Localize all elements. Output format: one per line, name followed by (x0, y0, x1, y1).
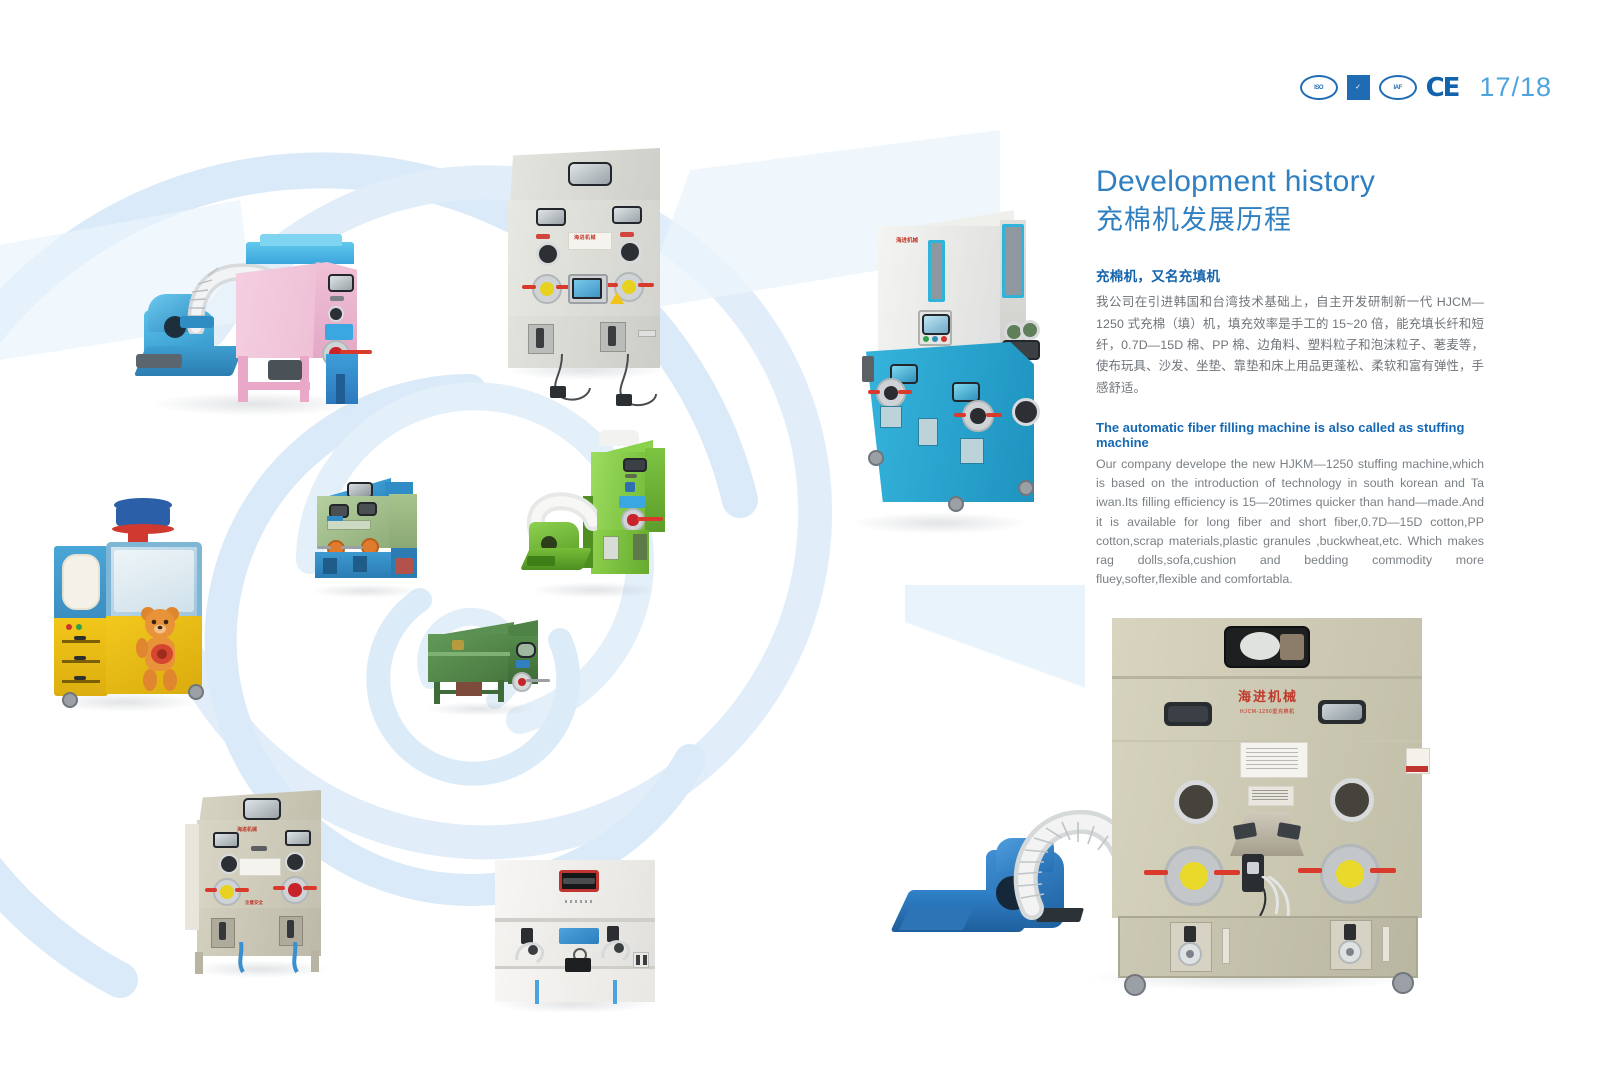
check-badge-text: ✓ (1355, 84, 1361, 91)
ce-mark: CE (1426, 73, 1459, 103)
model-label-large-machine: HJCM-1250型充棉机 (1240, 708, 1295, 715)
machine-white-twin-gun-machine (487, 860, 665, 1005)
machine-green-blower-filling-machine (525, 430, 670, 590)
page-title-en: Development history (1096, 165, 1484, 200)
page-number: 17/18 (1479, 72, 1552, 103)
filling-nozzle-right (1320, 844, 1380, 904)
machine-beige-twin-station-machine: 海进机械 注意安全 (185, 790, 335, 975)
machine-large-beige-hjcm-machine: 海进机械 HJCM-1250型充棉机 (900, 590, 1425, 990)
warning-triangle-icon (610, 292, 624, 304)
brand-label-grey-machine: 海进机械 (574, 234, 596, 241)
iso-badge-text: ISO (1314, 85, 1323, 91)
brand-label-beige-machine: 海进机械 (237, 826, 257, 833)
subtitle-cn: 充棉机，又名充填机 (1096, 265, 1484, 285)
check-certification-badge: ✓ (1347, 75, 1370, 100)
iaf-badge-text: IAF (1393, 85, 1401, 91)
brochure-page: ISO ✓ IAF CE 17/18 Development history 充… (0, 0, 1600, 1092)
brand-label-large-machine: 海进机械 (1238, 686, 1298, 705)
machine-blue-white-hjcm-1250-machine: 海进机械 (840, 200, 1040, 530)
caution-label-beige-machine: 注意安全 (245, 900, 263, 906)
machine-green-blue-carding-machine (305, 478, 425, 588)
machine-teddy-bear-stuffing-machine (48, 498, 213, 703)
body-paragraph-cn: 我公司在引进韩国和台湾技术基础上，自主开发研制新一代 HJCM—1250 式充棉… (1096, 292, 1484, 399)
body-paragraph-en: Our company develope the new HJKM—1250 s… (1096, 455, 1484, 590)
brand-label-blue-white-machine: 海进机械 (896, 236, 918, 244)
filling-nozzle-left (1164, 846, 1224, 906)
teddy-bear-decal (132, 602, 190, 694)
page-title-cn: 充棉机发展历程 (1096, 204, 1484, 238)
machine-green-opening-machine (420, 616, 545, 708)
certification-badges: ISO ✓ IAF CE 17/18 (1300, 72, 1552, 103)
machine-pink-blue-stuffing-machine (140, 228, 375, 403)
subtitle-en: The automatic fiber filling machine is a… (1096, 420, 1484, 450)
machine-grey-twin-nozzle-stuffing-machine: 海进机械 (500, 148, 675, 393)
iaf-certification-badge: IAF (1379, 75, 1417, 100)
copy-column: Development history 充棉机发展历程 充棉机，又名充填机 我公… (1096, 165, 1484, 589)
iso-certification-badge: ISO (1300, 75, 1338, 100)
